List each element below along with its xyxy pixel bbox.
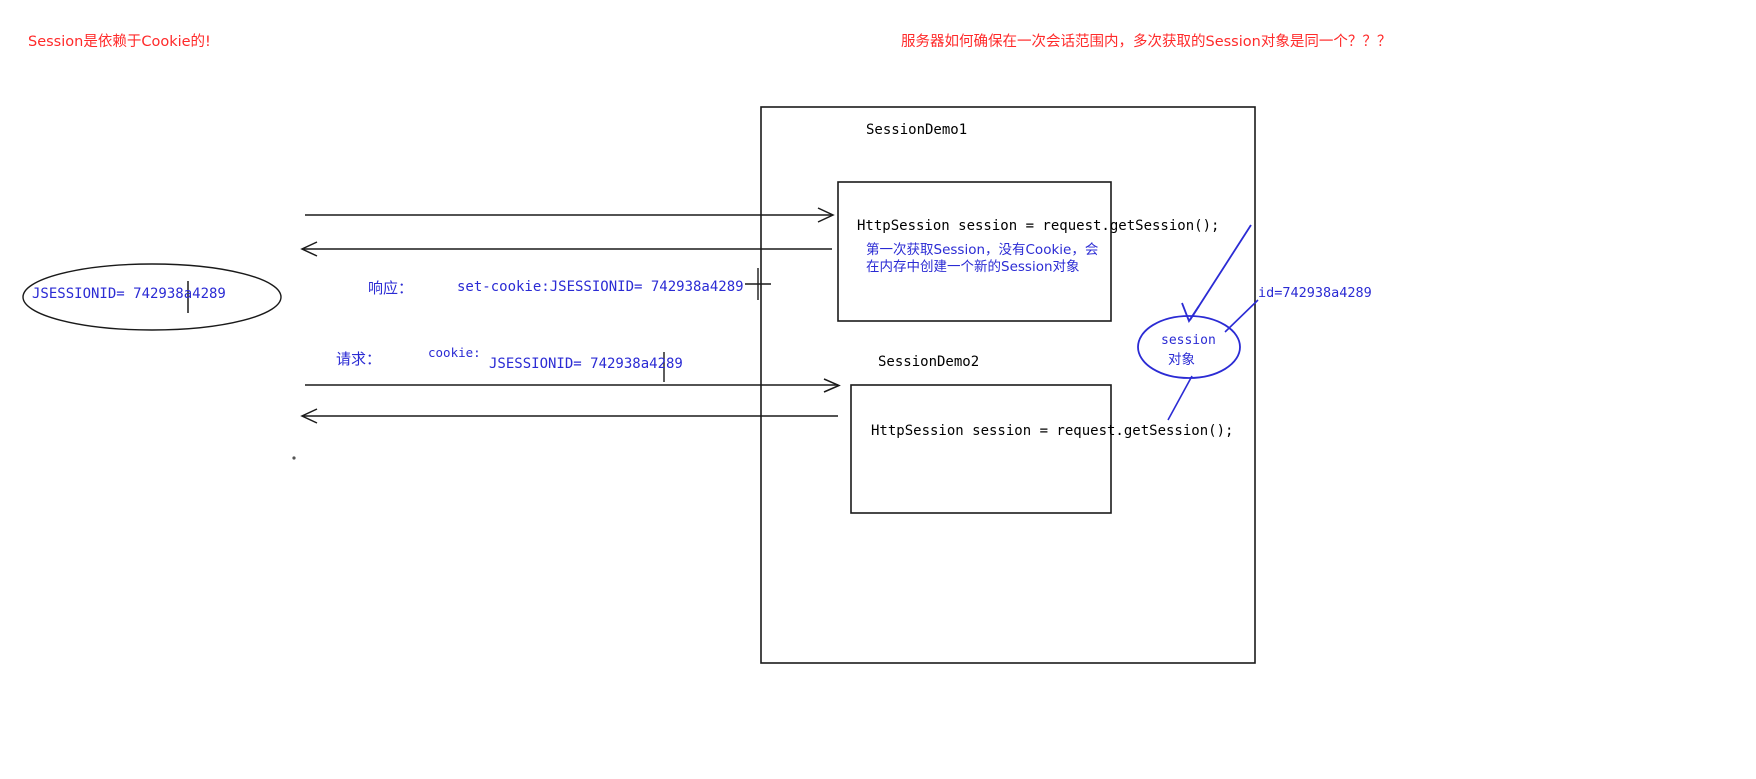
response-value: set-cookie:JSESSIONID= 742938a4289 [457, 279, 744, 295]
sessiondemo2-title: SessionDemo2 [878, 354, 979, 370]
sessiondemo2-code-box [851, 385, 1111, 513]
request-cookie-value: JSESSIONID= 742938a4289 [489, 356, 683, 372]
request-label: 请求： [336, 348, 381, 369]
sessiondemo1-code: HttpSession session = request.getSession… [857, 218, 1219, 234]
session-object-line1: session [1161, 333, 1216, 348]
session-id-label: id=742938a4289 [1258, 285, 1372, 301]
session-object-line2: 对象 [1168, 348, 1195, 368]
pointer-demo2-to-session [1168, 376, 1192, 420]
browser-cookie-label: JSESSIONID= 742938a4289 [32, 286, 226, 302]
diagram-canvas [0, 0, 1756, 779]
sessiondemo1-note-line2: 在内存中创建一个新的Session对象 [866, 259, 1080, 275]
pointer-id-to-session [1225, 300, 1258, 332]
stray-dot [292, 456, 295, 459]
response-label: 响应： [368, 277, 413, 298]
request-cookie-key: cookie: [428, 345, 481, 360]
pointer-code-to-session [1190, 225, 1251, 320]
sessiondemo1-title: SessionDemo1 [866, 122, 967, 138]
sessiondemo1-note-line1: 第一次获取Session，没有Cookie，会 [866, 242, 1098, 258]
sessiondemo2-code: HttpSession session = request.getSession… [871, 423, 1233, 439]
